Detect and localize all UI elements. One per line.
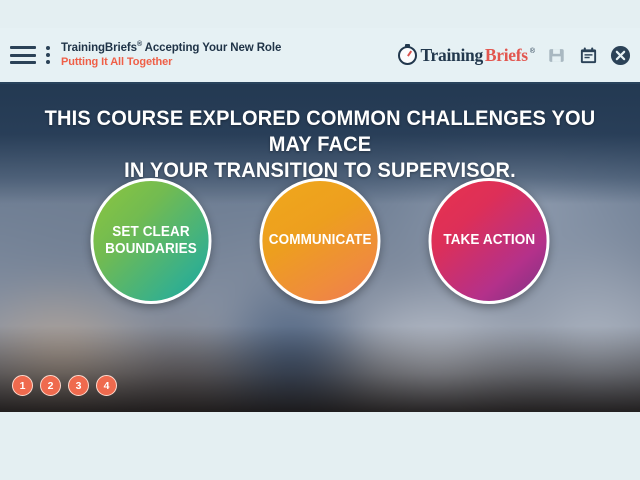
course-player: TrainingBriefs® Accepting Your New Role … <box>0 0 640 480</box>
brand-registered-mark: ® <box>530 48 535 55</box>
course-title: TrainingBriefs® Accepting Your New Role <box>61 41 281 55</box>
lesson-subtitle: Putting It All Together <box>61 56 281 69</box>
key-point-label-1: SET CLEAR BOUNDARIES <box>104 224 199 259</box>
header-actions: TrainingBriefs® <box>398 45 631 66</box>
stopwatch-icon <box>398 46 417 65</box>
slide-canvas: THIS COURSE EXPLORED COMMON CHALLENGES Y… <box>0 84 640 412</box>
kebab-dot <box>46 60 50 64</box>
key-point-label-2: COMMUNICATE <box>269 232 372 249</box>
player-header: TrainingBriefs® Accepting Your New Role … <box>0 28 640 84</box>
kebab-menu-icon[interactable] <box>45 46 50 64</box>
save-icon <box>546 45 567 66</box>
hamburger-line <box>10 61 36 64</box>
slide-headline: THIS COURSE EXPLORED COMMON CHALLENGES Y… <box>22 105 617 184</box>
pager-button-3[interactable]: 3 <box>68 375 89 396</box>
key-point-circle-3[interactable]: TAKE ACTION <box>429 178 550 304</box>
course-title-rest: Accepting Your New Role <box>142 42 281 54</box>
pager-button-2[interactable]: 2 <box>40 375 61 396</box>
trainingbriefs-logo: TrainingBriefs® <box>398 45 535 66</box>
slide-pager: 1 2 3 4 <box>12 375 117 396</box>
close-icon[interactable] <box>610 45 631 66</box>
brand-name-briefs: Briefs <box>485 45 528 66</box>
pager-button-1[interactable]: 1 <box>12 375 33 396</box>
hamburger-line <box>10 46 36 49</box>
brand-name-training: Training <box>420 45 482 66</box>
headline-line-1: THIS COURSE EXPLORED COMMON CHALLENGES Y… <box>22 105 617 157</box>
hamburger-line <box>10 54 36 57</box>
key-points-row: SET CLEAR BOUNDARIES COMMUNICATE TAKE AC… <box>0 178 640 304</box>
kebab-dot <box>46 46 50 50</box>
header-titles: TrainingBriefs® Accepting Your New Role … <box>61 41 281 68</box>
hamburger-icon[interactable] <box>10 46 36 64</box>
kebab-dot <box>46 53 50 57</box>
pager-button-4[interactable]: 4 <box>96 375 117 396</box>
key-point-label-3: TAKE ACTION <box>443 232 535 249</box>
key-point-circle-1[interactable]: SET CLEAR BOUNDARIES <box>91 178 212 304</box>
key-point-circle-2[interactable]: COMMUNICATE <box>260 178 381 304</box>
course-title-brand: TrainingBriefs <box>61 42 137 54</box>
bottom-overlay <box>0 326 640 412</box>
notes-icon[interactable] <box>578 45 599 66</box>
